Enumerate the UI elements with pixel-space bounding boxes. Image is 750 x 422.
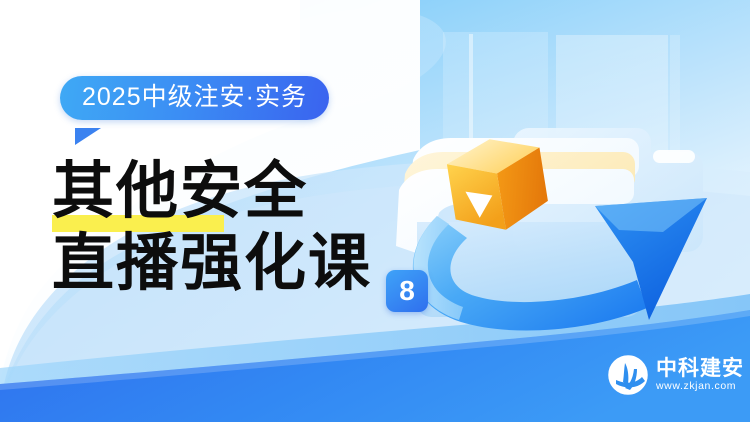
brand-name: 中科建安 [656,357,744,380]
title-line-1: 其他安全 [52,155,308,227]
brand-logo: 中科建安 www.zkjan.com [608,355,744,395]
folder-tab-slot [653,150,695,163]
course-category-badge: 2025中级注安·实务 [60,76,329,120]
title-line-2: 直播强化课 [52,227,372,299]
title-line-2-row: 直播强化课 [52,227,372,299]
brand-url: www.zkjan.com [656,380,744,393]
course-poster: 2025中级注安·实务 其他安全 直播强化课 8 中科建安 www.zkjan.… [0,0,750,422]
episode-number-badge: 8 [386,270,428,312]
brand-text: 中科建安 www.zkjan.com [656,357,744,393]
poster-title: 其他安全 直播强化课 [52,155,372,299]
title-line-1-row: 其他安全 [52,155,372,227]
badge-tail [75,128,101,145]
folder-arrow-illustration [395,10,750,360]
zkjan-logo-icon [608,355,648,395]
